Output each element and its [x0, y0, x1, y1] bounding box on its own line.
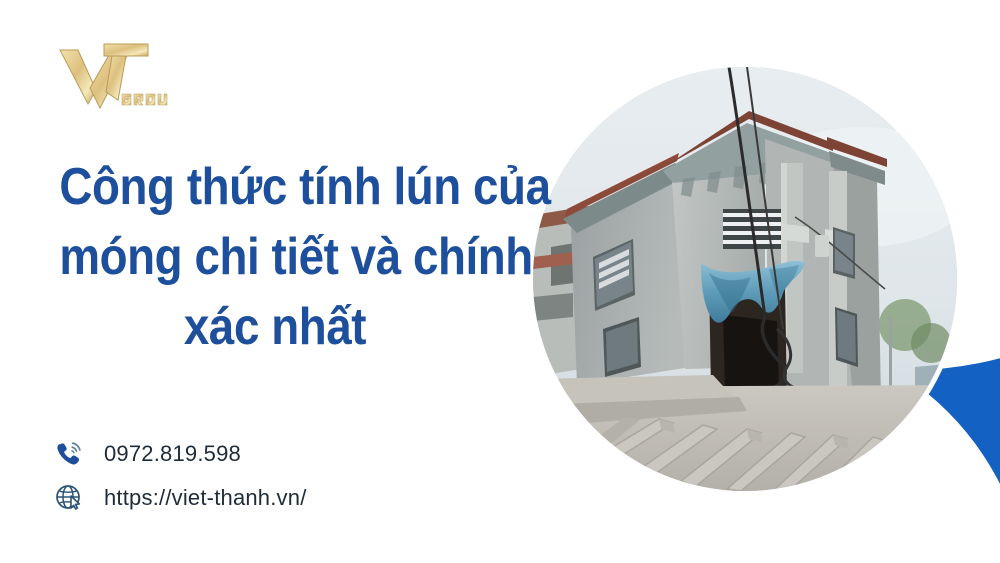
- page-title-line-1: Công thức tính lún của: [59, 152, 490, 222]
- phone-number: 0972.819.598: [104, 441, 241, 467]
- promo-banner: Công thức tính lún của móng chi tiết và …: [0, 0, 1000, 563]
- contact-info: 0972.819.598 https://viet-thanh.vn/: [52, 432, 307, 520]
- vt-group-logo-mark: [52, 38, 172, 116]
- website-url: https://viet-thanh.vn/: [104, 485, 307, 511]
- contact-row-website[interactable]: https://viet-thanh.vn/: [52, 476, 307, 520]
- page-title-line-3: xác nhất: [59, 292, 490, 362]
- phone-icon: [52, 437, 86, 471]
- contact-row-phone[interactable]: 0972.819.598: [52, 432, 307, 476]
- page-title: Công thức tính lún của móng chi tiết và …: [59, 152, 490, 362]
- vt-group-logo[interactable]: [52, 38, 172, 116]
- construction-house-photo-illustration: [533, 67, 957, 491]
- page-title-line-2: móng chi tiết và chính: [59, 222, 490, 292]
- globe-icon: [52, 481, 86, 515]
- construction-house-photo: [533, 67, 957, 491]
